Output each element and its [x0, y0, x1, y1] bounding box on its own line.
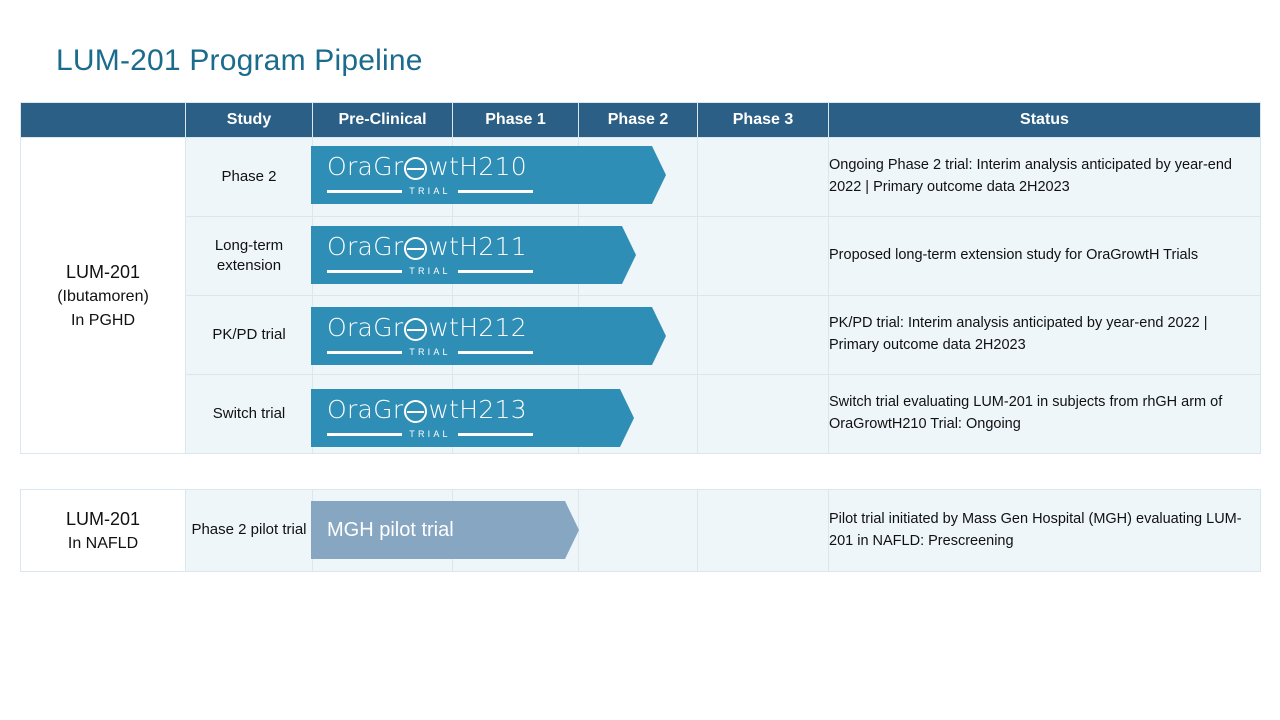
study-cell: Long-term extension — [186, 217, 313, 296]
phase3-cell — [698, 490, 829, 572]
logo-subtitle: TRIAL — [327, 429, 533, 439]
logo-wordmark: OraGr wtH213 — [327, 397, 539, 422]
column-header-preclinical[interactable]: Pre-Clinical — [313, 103, 453, 138]
logo-wordmark: OraGr wtH211 — [327, 234, 539, 259]
table-header: Study Pre-Clinical Phase 1 Phase 2 Phase… — [21, 103, 1261, 138]
phase3-cell — [698, 375, 829, 454]
pipeline-table-nafld: LUM-201 In NAFLD Phase 2 pilot trial Pil… — [20, 489, 1261, 572]
logo-prefix: OraGr — [327, 397, 403, 422]
status-cell: Ongoing Phase 2 trial: Interim analysis … — [829, 138, 1261, 217]
table-row: LUM-201 In NAFLD Phase 2 pilot trial Pil… — [21, 490, 1261, 572]
logo-capsule-icon — [404, 157, 427, 180]
phase3-cell — [698, 217, 829, 296]
logo-rule-left — [327, 190, 402, 193]
header-row: Study Pre-Clinical Phase 1 Phase 2 Phase… — [21, 103, 1261, 138]
pipeline-bar-mgh-pilot-trial[interactable]: MGH pilot trial — [311, 501, 579, 559]
column-header-phase2[interactable]: Phase 2 — [579, 103, 698, 138]
logo-suffix: wtH212 — [428, 315, 527, 340]
logo-suffix: wtH210 — [428, 154, 527, 179]
study-cell: Switch trial — [186, 375, 313, 454]
oragrowth-logo: OraGr wtH211 TRIAL — [327, 234, 539, 276]
study-cell: PK/PD trial — [186, 296, 313, 375]
logo-sub-label: TRIAL — [402, 266, 458, 276]
column-header-status[interactable]: Status — [829, 103, 1261, 138]
status-cell: Pilot trial initiated by Mass Gen Hospit… — [829, 490, 1261, 572]
logo-rule-left — [327, 351, 402, 354]
page-title: LUM-201 Program Pipeline — [56, 44, 423, 78]
phase2-cell — [579, 490, 698, 572]
logo-wordmark: OraGr wtH212 — [327, 315, 539, 340]
logo-prefix: OraGr — [327, 154, 403, 179]
logo-rule-right — [458, 433, 533, 436]
logo-prefix: OraGr — [327, 234, 403, 259]
pipeline-bar-oragrowth213[interactable]: OraGr wtH213 TRIAL — [311, 389, 634, 447]
logo-suffix: wtH213 — [428, 397, 527, 422]
oragrowth-logo: OraGr wtH213 TRIAL — [327, 397, 539, 439]
logo-subtitle: TRIAL — [327, 266, 533, 276]
logo-rule-right — [458, 270, 533, 273]
column-header-phase1[interactable]: Phase 1 — [453, 103, 579, 138]
logo-rule-left — [327, 270, 402, 273]
program-name: LUM-201 — [21, 506, 185, 532]
program-indication: In NAFLD — [21, 532, 185, 555]
pipeline-bar-label: MGH pilot trial — [327, 519, 579, 542]
program-cell-pghd: LUM-201 (Ibutamoren) In PGHD — [21, 138, 186, 454]
pipeline-bar-oragrowth210[interactable]: OraGr wtH210 TRIAL — [311, 146, 666, 204]
phase3-cell — [698, 296, 829, 375]
status-cell: Switch trial evaluating LUM-201 in subje… — [829, 375, 1261, 454]
program-generic: (Ibutamoren) — [21, 285, 185, 308]
column-header-study[interactable]: Study — [186, 103, 313, 138]
table-row: Switch trial Switch trial evaluating LUM… — [21, 375, 1261, 454]
program-cell-nafld: LUM-201 In NAFLD — [21, 490, 186, 572]
logo-sub-label: TRIAL — [402, 347, 458, 357]
study-cell: Phase 2 — [186, 138, 313, 217]
program-indication: In PGHD — [21, 309, 185, 332]
status-cell: PK/PD trial: Interim analysis anticipate… — [829, 296, 1261, 375]
table-row: Long-term extension Proposed long-term e… — [21, 217, 1261, 296]
status-cell: Proposed long-term extension study for O… — [829, 217, 1261, 296]
logo-capsule-icon — [404, 400, 427, 423]
logo-suffix: wtH211 — [428, 234, 527, 259]
logo-rule-right — [458, 351, 533, 354]
column-header-program — [21, 103, 186, 138]
oragrowth-logo: OraGr wtH210 TRIAL — [327, 154, 539, 196]
column-header-phase3[interactable]: Phase 3 — [698, 103, 829, 138]
oragrowth-logo: OraGr wtH212 TRIAL — [327, 315, 539, 357]
logo-sub-label: TRIAL — [402, 186, 458, 196]
logo-prefix: OraGr — [327, 315, 403, 340]
pipeline-bar-oragrowth211[interactable]: OraGr wtH211 TRIAL — [311, 226, 636, 284]
logo-capsule-icon — [404, 318, 427, 341]
logo-subtitle: TRIAL — [327, 347, 533, 357]
logo-subtitle: TRIAL — [327, 186, 533, 196]
logo-capsule-icon — [404, 237, 427, 260]
phase3-cell — [698, 138, 829, 217]
program-name: LUM-201 — [21, 259, 185, 285]
pipeline-bar-oragrowth212[interactable]: OraGr wtH212 TRIAL — [311, 307, 666, 365]
study-cell: Phase 2 pilot trial — [186, 490, 313, 572]
logo-rule-right — [458, 190, 533, 193]
logo-wordmark: OraGr wtH210 — [327, 154, 539, 179]
logo-sub-label: TRIAL — [402, 429, 458, 439]
logo-rule-left — [327, 433, 402, 436]
